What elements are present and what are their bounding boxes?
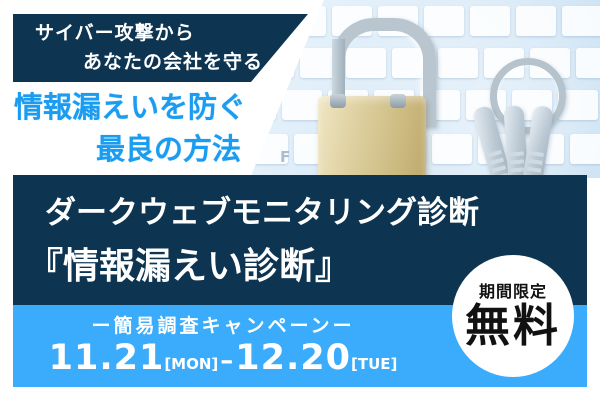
campaign-date-separator: – [218,346,235,376]
padlock-icon [310,18,430,178]
top-catch-line2: あなたの会社を守る [83,47,263,74]
headline-line2: 最良の方法 [96,126,241,168]
service-title-line2: 『情報漏えい診断』 [27,237,351,289]
campaign-dates: 11.21[MON]–12.20[TUE] [13,338,433,378]
keys-icon [452,58,582,178]
campaign-label: ー簡易調査キャンペーンー [13,311,433,338]
free-badge-label: 無料 [465,303,561,348]
campaign-start-date: 11.21 [49,338,165,378]
free-badge: 期間限定 無料 [452,255,574,377]
service-title-line1: ダークウェブモニタリング診断 [45,187,479,232]
headline-block: 情報漏えいを防ぐ 最良の方法 [0,84,300,168]
campaign-end-date: 12.20 [235,338,351,378]
campaign-end-day: [TUE] [351,355,397,373]
promo-banner: F G サイバー攻撃から あなたの会社を守る 情報漏えいを防ぐ 最良の方法 ダー… [0,0,600,400]
top-catch-line1: サイバー攻撃から [35,18,195,45]
free-badge-sublabel: 期間限定 [479,284,547,300]
campaign-start-day: [MON] [164,355,218,373]
headline-line1: 情報漏えいを防ぐ [14,84,246,126]
